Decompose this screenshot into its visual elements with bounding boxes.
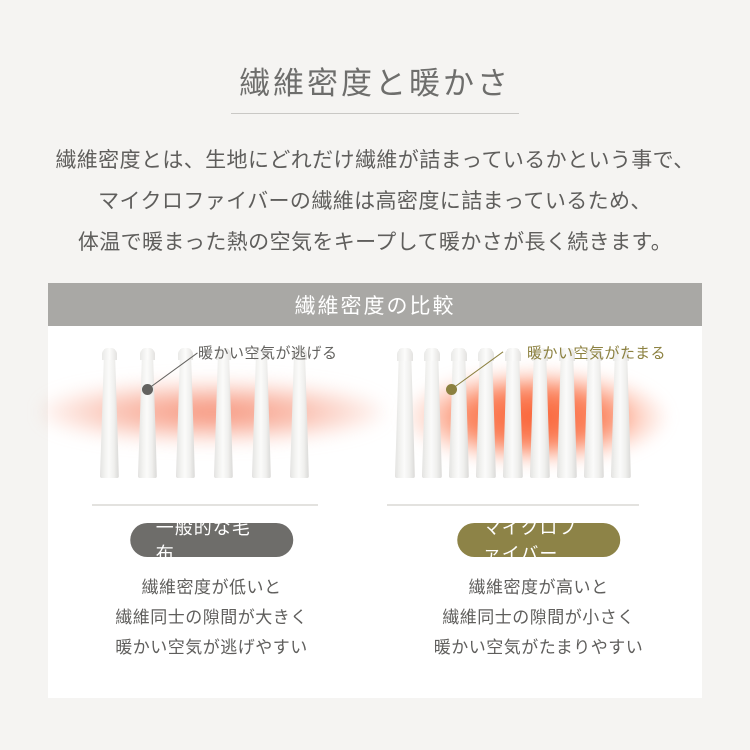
caption-right: 繊維密度が高いと 繊維同士の隙間が小さく 暖かい空気がたまりやすい <box>375 573 702 663</box>
fiber-diagram-right: 暖かい空気がたまる <box>375 326 702 506</box>
fiber-strand <box>100 348 119 478</box>
annotation-dot-icon <box>446 384 457 395</box>
fiber-strand <box>176 348 195 478</box>
lead-paragraph: 繊維密度とは、生地にどれだけ繊維が詰まっているかという事で、 マイクロファイバー… <box>0 140 750 263</box>
fiber-cap-icon <box>451 348 467 361</box>
fiber-strand <box>138 348 157 478</box>
fiber-strand <box>214 348 233 478</box>
caption-left-line-3: 暖かい空気が逃げやすい <box>48 633 375 663</box>
diagram-baseline <box>387 504 639 506</box>
annotation-label-right: 暖かい空気がたまる <box>527 342 666 363</box>
card-header-title: 繊維密度の比較 <box>48 283 702 326</box>
lead-line-2: マイクロファイバーの繊維は高密度に詰まっているため、 <box>0 181 750 222</box>
fiber-cap-icon <box>397 348 413 361</box>
comparison-column-right: 暖かい空気がたまる マイクロファイバー 繊維密度が高いと 繊維同士の隙間が小さく… <box>375 326 702 698</box>
caption-left-line-1: 繊維密度が低いと <box>48 573 375 603</box>
comparison-column-left: 暖かい空気が逃げる 一般的な毛布 繊維密度が低いと 繊維同士の隙間が大きく 暖か… <box>48 326 375 698</box>
fiber-cap-icon <box>140 348 155 360</box>
heat-glow-left <box>42 382 382 442</box>
fiber-cap-icon <box>424 348 440 361</box>
caption-left-line-2: 繊維同士の隙間が大きく <box>48 603 375 633</box>
fiber-diagram-left: 暖かい空気が逃げる <box>48 326 375 506</box>
fiber-cap-icon <box>505 348 521 361</box>
title-divider <box>231 113 519 114</box>
lead-line-3: 体温で暖まった熱の空気をキープして暖かさが長く続きます。 <box>0 222 750 263</box>
caption-left: 繊維密度が低いと 繊維同士の隙間が大きく 暖かい空気が逃げやすい <box>48 573 375 663</box>
annotation-dot-icon <box>142 384 153 395</box>
caption-right-line-2: 繊維同士の隙間が小さく <box>375 603 702 633</box>
fiber-strand <box>290 348 309 478</box>
infographic-page: 繊維密度と暖かさ 繊維密度とは、生地にどれだけ繊維が詰まっているかという事で、 … <box>0 0 750 750</box>
lead-line-1: 繊維密度とは、生地にどれだけ繊維が詰まっているかという事で、 <box>0 140 750 181</box>
caption-right-line-3: 暖かい空気がたまりやすい <box>375 633 702 663</box>
badge-microfiber: マイクロファイバー <box>457 523 621 557</box>
page-title: 繊維密度と暖かさ <box>0 58 750 103</box>
caption-right-line-1: 繊維密度が高いと <box>375 573 702 603</box>
fiber-cap-icon <box>102 348 117 360</box>
diagram-baseline <box>92 504 318 506</box>
annotation-label-left: 暖かい空気が逃げる <box>198 342 338 363</box>
badge-general-blanket: 一般的な毛布 <box>130 523 294 557</box>
comparison-card: 繊維密度の比較 <box>48 283 702 698</box>
fiber-strand <box>252 348 271 478</box>
